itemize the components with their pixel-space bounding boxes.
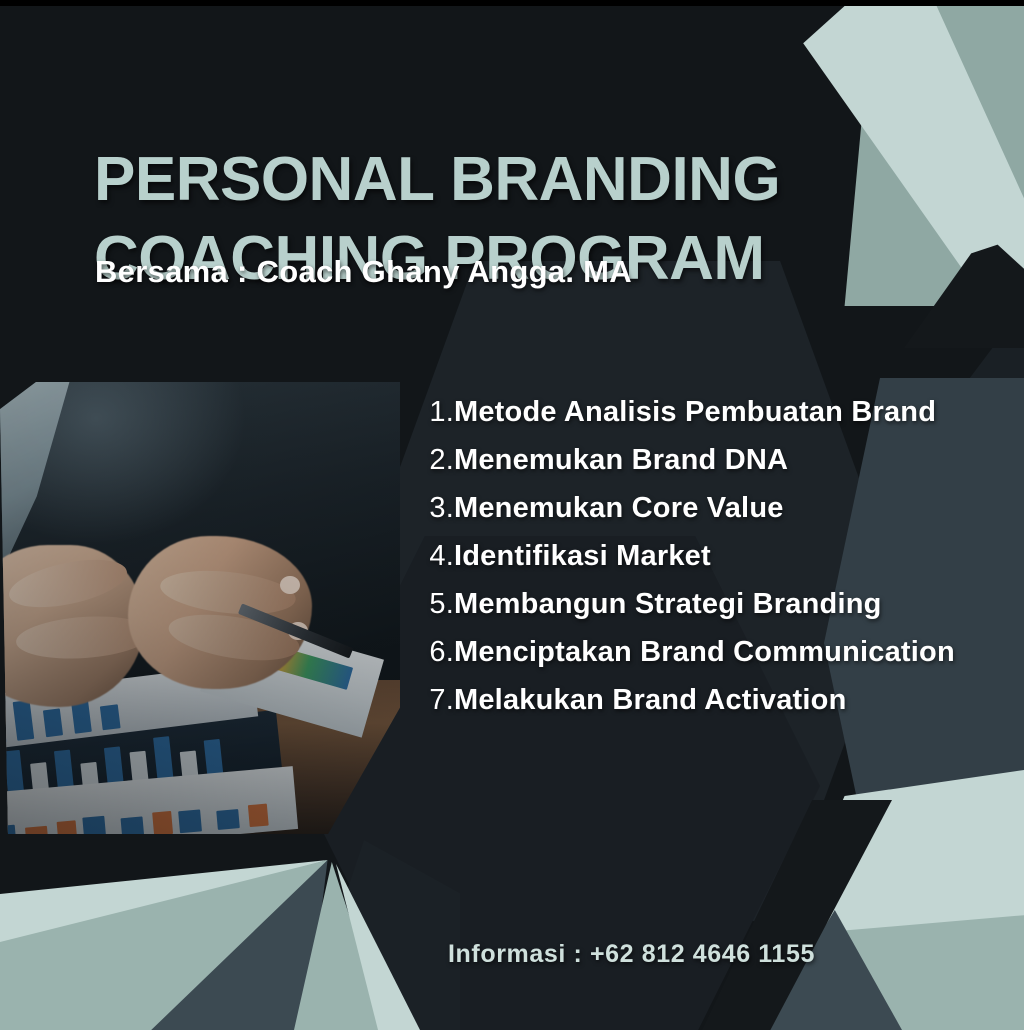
- list-item-number: 7.: [420, 686, 454, 715]
- page-title-line-1: PERSONAL BRANDING: [94, 140, 914, 219]
- list-item: 1.Metode Analisis Pembuatan Brand: [420, 398, 1000, 427]
- poster-canvas: PERSONAL BRANDING COACHING PROGRAM Bersa…: [0, 0, 1024, 1030]
- list-item-label: Membangun Strategi Branding: [454, 590, 882, 619]
- list-item-number: 2.: [420, 446, 454, 475]
- list-item: 5.Membangun Strategi Branding: [420, 590, 1000, 619]
- list-item-label: Menemukan Brand DNA: [454, 446, 788, 475]
- list-item-label: Metode Analisis Pembuatan Brand: [454, 398, 936, 427]
- list-item: 3.Menemukan Core Value: [420, 494, 1000, 523]
- list-item-label: Identifikasi Market: [454, 542, 711, 571]
- list-item-number: 3.: [420, 494, 454, 523]
- contact-info: Informasi : +62 812 4646 1155: [448, 940, 815, 969]
- list-item-number: 1.: [420, 398, 454, 427]
- list-item-number: 5.: [420, 590, 454, 619]
- page-subtitle: Bersama : Coach Ghany Angga. MA: [95, 254, 632, 290]
- list-item: 4.Identifikasi Market: [420, 542, 1000, 571]
- list-item-number: 6.: [420, 638, 454, 667]
- list-item-label: Menciptakan Brand Communication: [454, 638, 955, 667]
- list-item-label: Melakukan Brand Activation: [454, 686, 847, 715]
- list-item: 2.Menemukan Brand DNA: [420, 446, 1000, 475]
- list-item-number: 4.: [420, 542, 454, 571]
- list-item: 6.Menciptakan Brand Communication: [420, 638, 1000, 667]
- program-topic-list: 1.Metode Analisis Pembuatan Brand2.Menem…: [420, 398, 1000, 734]
- list-item: 7.Melakukan Brand Activation: [420, 686, 1000, 715]
- list-item-label: Menemukan Core Value: [454, 494, 784, 523]
- poster-text-content: PERSONAL BRANDING COACHING PROGRAM Bersa…: [0, 6, 1024, 1030]
